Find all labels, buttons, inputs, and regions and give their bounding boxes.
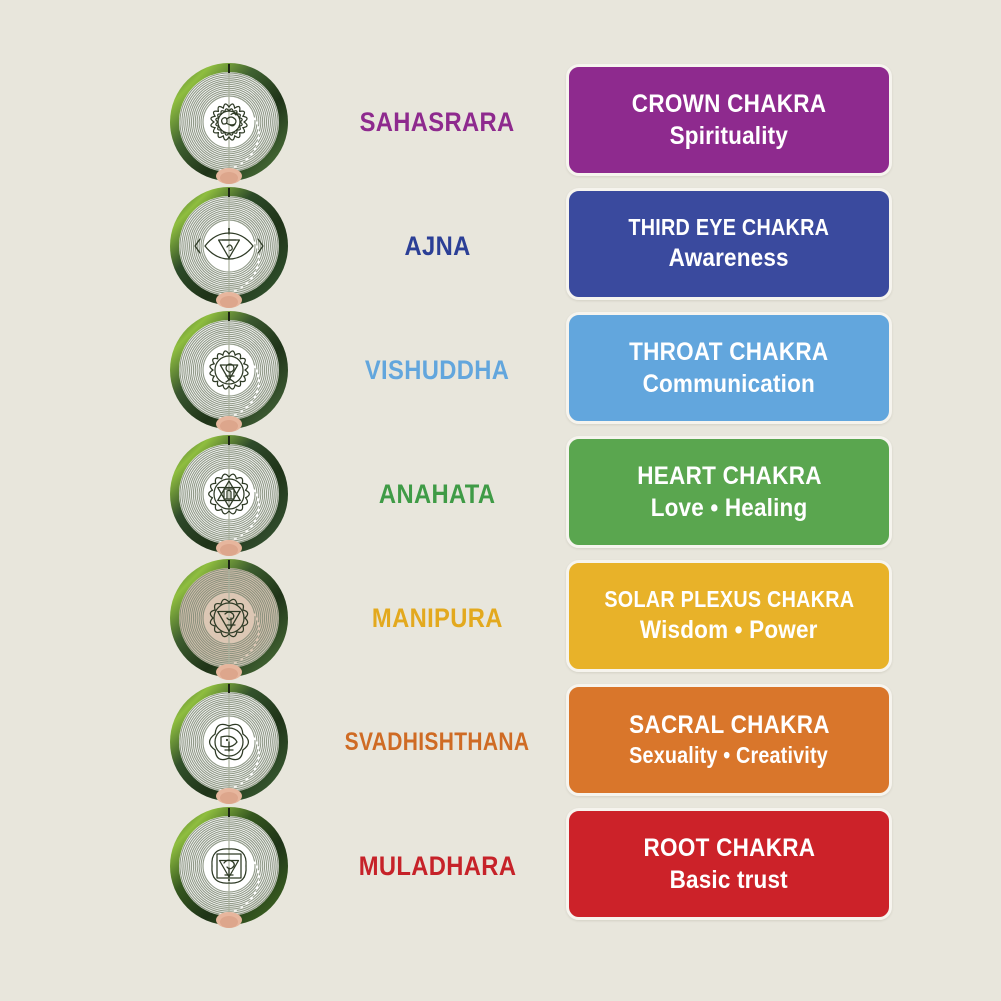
chakra-row: SVADHISHTHANA SACRAL CHAKRA Sexuality • … xyxy=(0,680,1001,804)
sanskrit-name-cell: MULADHARA xyxy=(310,804,565,928)
chakra-disc-svg xyxy=(167,184,291,308)
chakra-row: VISHUDDHA THROAT CHAKRA Communication xyxy=(0,308,1001,432)
chakra-plate[interactable]: CROWN CHAKRA Spirituality xyxy=(566,64,892,176)
chakra-plate-cell: THIRD EYE CHAKRA Awareness xyxy=(566,188,896,304)
chakra-plate[interactable]: SACRAL CHAKRA Sexuality • Creativity xyxy=(566,684,892,796)
chakra-plate-subtitle: Spirituality xyxy=(670,121,788,151)
chakra-plate-cell: SACRAL CHAKRA Sexuality • Creativity xyxy=(566,684,896,800)
chakra-plate-title: HEART CHAKRA xyxy=(637,462,821,490)
chakra-plate[interactable]: THIRD EYE CHAKRA Awareness xyxy=(566,188,892,300)
chakra-plate-subtitle: Awareness xyxy=(669,243,789,273)
sanskrit-name: ANAHATA xyxy=(379,481,495,508)
chakra-disc-svg xyxy=(167,60,291,184)
chakra-plate-cell: HEART CHAKRA Love • Healing xyxy=(566,436,896,552)
chakra-plate[interactable]: SOLAR PLEXUS CHAKRA Wisdom • Power xyxy=(566,560,892,672)
chakra-disc-manipura[interactable] xyxy=(167,556,291,680)
chakra-disc-svg xyxy=(167,804,291,928)
sanskrit-name-cell: ANAHATA xyxy=(310,432,565,556)
sanskrit-name: SVADHISHTHANA xyxy=(345,730,530,755)
chakra-row: MULADHARA ROOT CHAKRA Basic trust xyxy=(0,804,1001,928)
chakra-row: ANAHATA HEART CHAKRA Love • Healing xyxy=(0,432,1001,556)
sanskrit-name: AJNA xyxy=(404,233,470,260)
chakra-plate[interactable]: ROOT CHAKRA Basic trust xyxy=(566,808,892,920)
chakra-disc-svg xyxy=(167,680,291,804)
chakra-disc-svg xyxy=(167,308,291,432)
chakra-plate-subtitle: Sexuality • Creativity xyxy=(630,742,829,770)
sanskrit-name-cell: VISHUDDHA xyxy=(310,308,565,432)
chakra-row: SAHASRARA CROWN CHAKRA Spirituality xyxy=(0,60,1001,184)
chakra-plate-cell: CROWN CHAKRA Spirituality xyxy=(566,64,896,180)
chakra-plate-title: CROWN CHAKRA xyxy=(632,90,826,118)
chakra-plate-cell: SOLAR PLEXUS CHAKRA Wisdom • Power xyxy=(566,560,896,676)
chakra-disc-svadhishthana[interactable] xyxy=(167,680,291,804)
chakra-disc-vishuddha[interactable] xyxy=(167,308,291,432)
sanskrit-name: MANIPURA xyxy=(372,605,503,632)
chakra-plate-cell: ROOT CHAKRA Basic trust xyxy=(566,808,896,924)
sanskrit-name: SAHASRARA xyxy=(360,109,515,136)
sanskrit-name: MULADHARA xyxy=(359,853,517,880)
sanskrit-name-cell: SVADHISHTHANA xyxy=(310,680,565,804)
chakra-disc-sahasrara[interactable] xyxy=(167,60,291,184)
chakra-plate-title: ROOT CHAKRA xyxy=(643,834,815,862)
chakra-plate-cell: THROAT CHAKRA Communication xyxy=(566,312,896,428)
chakra-plate-subtitle: Love • Healing xyxy=(651,493,808,523)
chakra-disc-svg xyxy=(167,556,291,680)
sanskrit-name: VISHUDDHA xyxy=(365,357,509,384)
chakra-plate-title: THROAT CHAKRA xyxy=(629,338,828,366)
chakra-plate-title: SACRAL CHAKRA xyxy=(629,711,830,739)
chakra-chart: SAHASRARA CROWN CHAKRA Spirituality xyxy=(0,0,1001,1001)
sanskrit-name-cell: MANIPURA xyxy=(310,556,565,680)
chakra-plate-subtitle: Wisdom • Power xyxy=(640,615,818,645)
chakra-disc-ajna[interactable] xyxy=(167,184,291,308)
chakra-plate[interactable]: THROAT CHAKRA Communication xyxy=(566,312,892,424)
chakra-plate[interactable]: HEART CHAKRA Love • Healing xyxy=(566,436,892,548)
chakra-disc-muladhara[interactable] xyxy=(167,804,291,928)
chakra-plate-subtitle: Communication xyxy=(643,369,815,399)
chakra-row: AJNA THIRD EYE CHAKRA Awareness xyxy=(0,184,1001,308)
sanskrit-name-cell: AJNA xyxy=(310,184,565,308)
chakra-disc-svg xyxy=(167,432,291,556)
chakra-plate-title: SOLAR PLEXUS CHAKRA xyxy=(604,587,854,613)
chakra-disc-anahata[interactable] xyxy=(167,432,291,556)
sanskrit-name-cell: SAHASRARA xyxy=(310,60,565,184)
chakra-row: MANIPURA SOLAR PLEXUS CHAKRA Wisdom • Po… xyxy=(0,556,1001,680)
chakra-plate-title: THIRD EYE CHAKRA xyxy=(629,215,830,241)
chakra-plate-subtitle: Basic trust xyxy=(670,865,788,895)
